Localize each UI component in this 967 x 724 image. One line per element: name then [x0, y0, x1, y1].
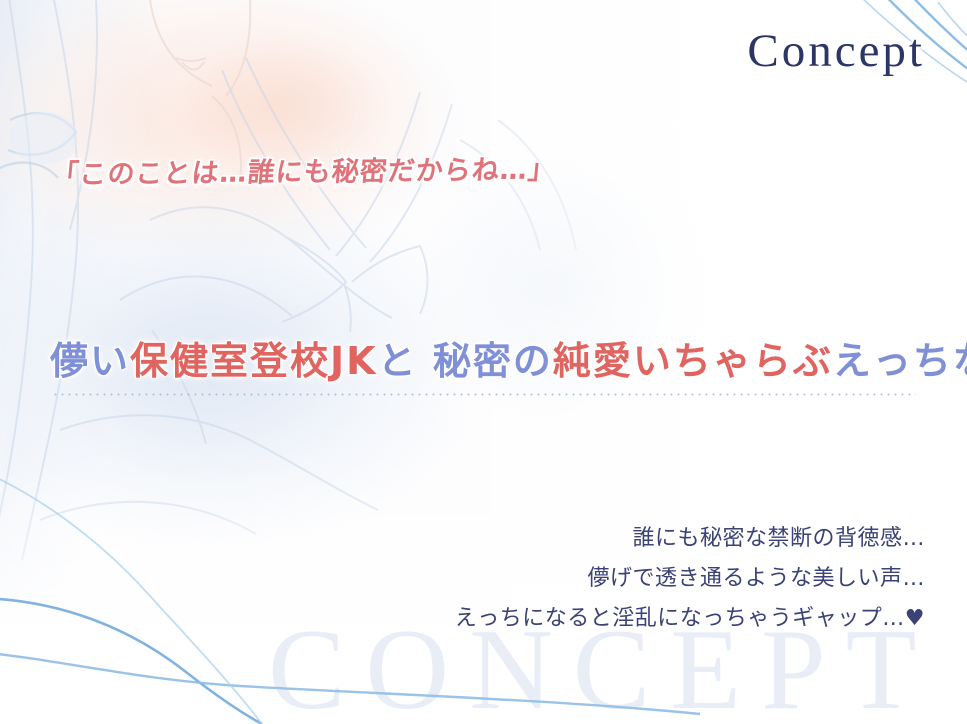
dotted-divider	[52, 393, 916, 396]
diagonal-line-4	[938, 2, 967, 60]
headline-segment-4: 純愛いちゃらぶ	[553, 339, 833, 383]
headline-segment-3: と 秘密の	[378, 339, 553, 383]
headline-segment-5: えっちな日々	[833, 339, 967, 383]
swoosh-line-3	[0, 470, 262, 724]
headline-segment-1: 儚い	[50, 339, 130, 383]
headline: 儚い保健室登校JKと 秘密の純愛いちゃらぶえっちな日々	[50, 342, 967, 382]
swoosh-line-1	[0, 598, 262, 724]
feature-line-1: 誰にも秘密な禁断の背徳感…	[455, 528, 925, 550]
character-quote: 「このことは…誰にも秘密だからね…」	[50, 147, 558, 191]
feature-line-2: 儚げで透き通るような美しい声…	[455, 568, 925, 590]
feature-line-3: えっちになると淫乱になっちゃうギャップ…♥	[455, 608, 925, 630]
concept-page: CONCEPT Concept 「このこと	[0, 0, 967, 724]
feature-list: 誰にも秘密な禁断の背徳感… 儚げで透き通るような美しい声… えっちになると淫乱に…	[455, 528, 925, 630]
bg-arm-wash	[380, 140, 800, 470]
page-title: Concept	[747, 24, 925, 78]
bg-hair-wash	[0, 0, 150, 600]
headline-segment-2: 保健室登校JK	[130, 339, 378, 383]
